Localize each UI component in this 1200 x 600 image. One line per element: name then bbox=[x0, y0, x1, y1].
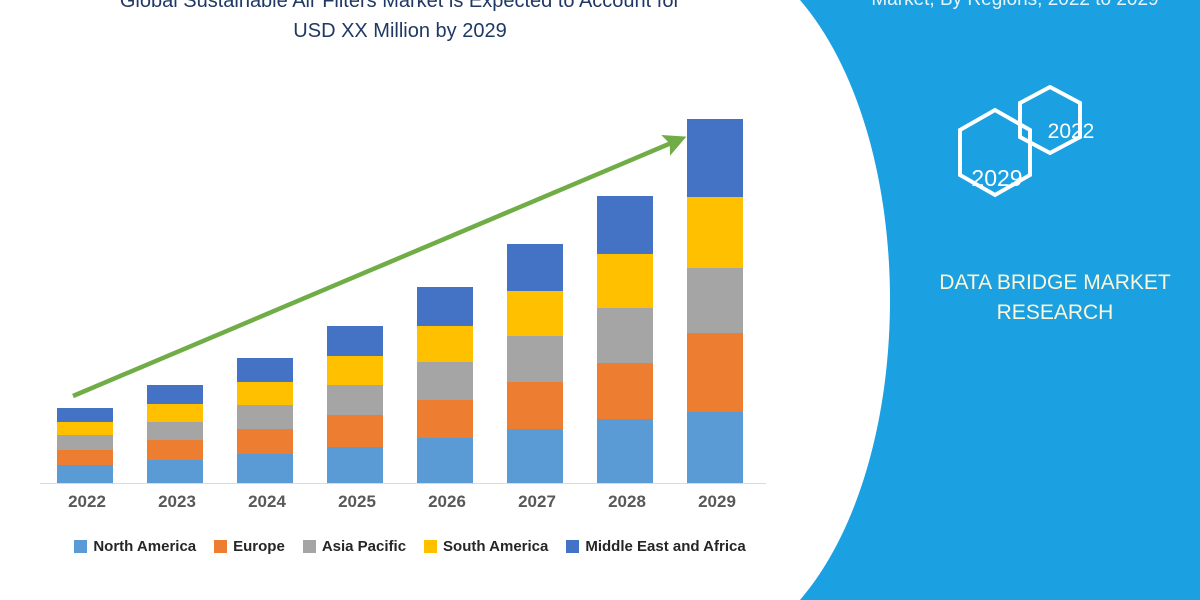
stacked-bar[interactable] bbox=[597, 196, 653, 484]
stacked-bar[interactable] bbox=[687, 119, 743, 484]
bar-segment[interactable] bbox=[327, 415, 383, 446]
legend-label: Middle East and Africa bbox=[585, 538, 745, 555]
bar-segment[interactable] bbox=[57, 450, 113, 466]
bar-segment[interactable] bbox=[327, 326, 383, 356]
stacked-bar[interactable] bbox=[417, 287, 473, 484]
stacked-bar[interactable] bbox=[237, 358, 293, 484]
bar-segment[interactable] bbox=[237, 405, 293, 429]
bar-segment[interactable] bbox=[57, 422, 113, 435]
bar-segment[interactable] bbox=[507, 291, 563, 336]
bar-segment[interactable] bbox=[57, 465, 113, 484]
bar-segment[interactable] bbox=[147, 385, 203, 404]
bar-segment[interactable] bbox=[597, 254, 653, 308]
bar-segment[interactable] bbox=[147, 422, 203, 441]
x-tick-2027: 2027 bbox=[492, 492, 582, 512]
bar-segment[interactable] bbox=[147, 460, 203, 484]
bar-segment[interactable] bbox=[507, 244, 563, 292]
stacked-bar[interactable] bbox=[507, 244, 563, 484]
bar-segment[interactable] bbox=[687, 119, 743, 197]
brand-panel-content: Market, By Regions, 2022 to 2029 2029 20… bbox=[760, 0, 1200, 600]
bar-segment[interactable] bbox=[237, 382, 293, 405]
x-tick-2028: 2028 bbox=[582, 492, 672, 512]
bar-segment[interactable] bbox=[417, 362, 473, 399]
bar-group bbox=[687, 120, 743, 484]
legend-swatch-icon bbox=[303, 540, 316, 553]
legend-swatch-icon bbox=[566, 540, 579, 553]
bar-segment[interactable] bbox=[597, 419, 653, 484]
x-tick-2022: 2022 bbox=[42, 492, 132, 512]
bar-segment[interactable] bbox=[57, 408, 113, 421]
legend-item-middle-east-and-africa[interactable]: Middle East and Africa bbox=[566, 538, 745, 555]
bar-segment[interactable] bbox=[687, 412, 743, 484]
bar-group bbox=[507, 120, 563, 484]
bar-group bbox=[597, 120, 653, 484]
bar-segment[interactable] bbox=[417, 438, 473, 484]
legend-item-north-america[interactable]: North America bbox=[74, 538, 196, 555]
stacked-bar[interactable] bbox=[57, 408, 113, 484]
hexagon-large-label: 2029 bbox=[942, 165, 1052, 192]
bar-group bbox=[147, 120, 203, 484]
infographic-canvas: Global Sustainable Air Filters Market is… bbox=[0, 0, 1200, 600]
bar-segment[interactable] bbox=[327, 385, 383, 415]
chart-title: Global Sustainable Air Filters Market is… bbox=[50, 0, 750, 46]
bar-segment[interactable] bbox=[57, 435, 113, 450]
x-tick-2025: 2025 bbox=[312, 492, 402, 512]
chart-panel: Global Sustainable Air Filters Market is… bbox=[0, 0, 800, 600]
legend-item-south-america[interactable]: South America bbox=[424, 538, 548, 555]
x-tick-2023: 2023 bbox=[132, 492, 222, 512]
bar-segment[interactable] bbox=[597, 308, 653, 363]
bar-group bbox=[237, 120, 293, 484]
bar-segment[interactable] bbox=[147, 440, 203, 460]
legend-item-asia-pacific[interactable]: Asia Pacific bbox=[303, 538, 406, 555]
chart-legend: North America Europe Asia Pacific South … bbox=[40, 538, 780, 555]
bar-segment[interactable] bbox=[507, 429, 563, 484]
hexagon-badges-icon bbox=[910, 85, 1190, 225]
bar-group bbox=[327, 120, 383, 484]
bar-segment[interactable] bbox=[507, 336, 563, 382]
x-axis-labels: 2022 2023 2024 2025 2026 2027 2028 2029 bbox=[40, 492, 768, 520]
axis-baseline bbox=[40, 483, 766, 484]
legend-swatch-icon bbox=[424, 540, 437, 553]
legend-label: South America bbox=[443, 538, 548, 555]
bar-group bbox=[417, 120, 473, 484]
bar-segment[interactable] bbox=[147, 404, 203, 422]
bar-segment[interactable] bbox=[327, 447, 383, 484]
bar-group bbox=[57, 120, 113, 484]
hexagon-small-label: 2022 bbox=[1024, 120, 1118, 144]
bar-segment[interactable] bbox=[237, 454, 293, 484]
bar-segment[interactable] bbox=[237, 429, 293, 454]
bar-segment[interactable] bbox=[687, 268, 743, 334]
panel-title: Market, By Regions, 2022 to 2029 bbox=[840, 0, 1190, 14]
bar-segment[interactable] bbox=[417, 400, 473, 439]
bar-segment[interactable] bbox=[687, 333, 743, 412]
stacked-bar[interactable] bbox=[327, 326, 383, 484]
legend-item-europe[interactable]: Europe bbox=[214, 538, 285, 555]
bar-segment[interactable] bbox=[597, 196, 653, 254]
legend-label: Europe bbox=[233, 538, 285, 555]
bar-segment[interactable] bbox=[597, 363, 653, 419]
bar-segment[interactable] bbox=[417, 326, 473, 362]
bar-segment[interactable] bbox=[507, 382, 563, 429]
brand-name: DATA BRIDGE MARKET RESEARCH bbox=[910, 268, 1200, 328]
legend-label: Asia Pacific bbox=[322, 538, 406, 555]
brand-panel: Market, By Regions, 2022 to 2029 2029 20… bbox=[760, 0, 1200, 600]
stacked-bar[interactable] bbox=[147, 385, 203, 484]
legend-label: North America bbox=[93, 538, 196, 555]
x-tick-2026: 2026 bbox=[402, 492, 492, 512]
bar-segment[interactable] bbox=[237, 358, 293, 382]
x-tick-2024: 2024 bbox=[222, 492, 312, 512]
legend-swatch-icon bbox=[214, 540, 227, 553]
bar-segment[interactable] bbox=[687, 197, 743, 268]
x-tick-2029: 2029 bbox=[672, 492, 762, 512]
bar-segment[interactable] bbox=[417, 287, 473, 326]
bar-segment[interactable] bbox=[327, 356, 383, 385]
legend-swatch-icon bbox=[74, 540, 87, 553]
plot-area bbox=[40, 120, 768, 484]
